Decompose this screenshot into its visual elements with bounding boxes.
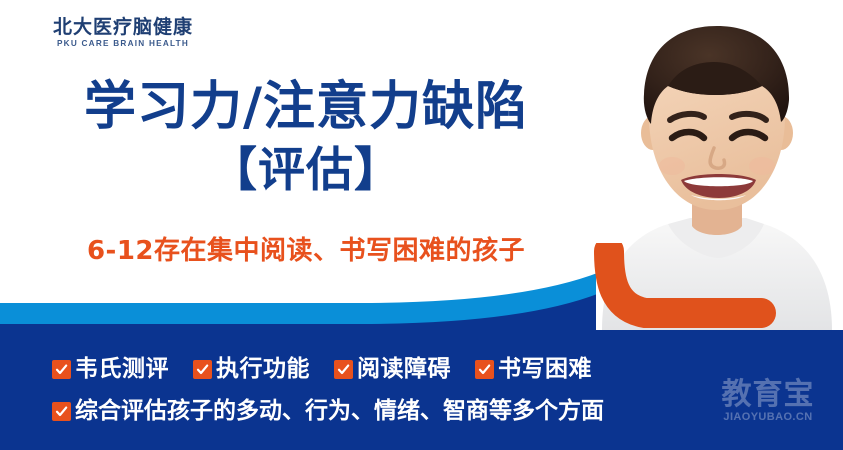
feature-list: 韦氏测评 执行功能 阅读障碍: [52, 348, 732, 432]
feature-row-2: 综合评估孩子的多动、行为、情绪、智商等多个方面: [52, 390, 732, 432]
subheadline: 6-12存在集中阅读、书写困难的孩子: [0, 234, 612, 268]
checkbox-checked-icon: [475, 360, 494, 379]
feature-row-1: 韦氏测评 执行功能 阅读障碍: [52, 348, 732, 390]
check-glyph: [478, 363, 491, 376]
brand-logo-en: PKU CARE BRAIN HEALTH: [57, 38, 189, 49]
feature-item-weishi: 韦氏测评: [52, 356, 169, 382]
brand-logo-cn: 北大医疗脑健康: [53, 17, 193, 37]
child-photo-illustration: [596, 0, 843, 330]
headline-block: 学习力/注意力缺陷 【评估】: [0, 76, 612, 204]
feature-label: 阅读障碍: [357, 356, 451, 382]
feature-label: 韦氏测评: [75, 356, 169, 382]
feature-label: 书写困难: [498, 356, 592, 382]
feature-label: 执行功能: [216, 356, 310, 382]
checkbox-checked-icon: [52, 360, 71, 379]
feature-label: 综合评估孩子的多动、行为、情绪、智商等多个方面: [75, 398, 604, 424]
headline-line-1: 学习力/注意力缺陷: [0, 76, 612, 138]
checkbox-checked-icon: [52, 402, 71, 421]
check-glyph: [196, 363, 209, 376]
feature-item-zhixinggongneng: 执行功能: [193, 356, 310, 382]
check-glyph: [55, 405, 68, 418]
watermark: 教育宝 JIAOYUBAO.CN: [707, 378, 829, 424]
brand-logo: 北大医疗脑健康 PKU CARE BRAIN HEALTH: [48, 14, 198, 52]
child-photo: [596, 0, 843, 330]
feature-item-zongheceping: 综合评估孩子的多动、行为、情绪、智商等多个方面: [52, 398, 604, 424]
watermark-cn: 教育宝: [707, 378, 829, 411]
feature-item-shuxiekunnan: 书写困难: [475, 356, 592, 382]
check-glyph: [55, 363, 68, 376]
checkbox-checked-icon: [334, 360, 353, 379]
headline-line-2: 【评估】: [0, 138, 612, 204]
check-glyph: [337, 363, 350, 376]
checkbox-checked-icon: [193, 360, 212, 379]
watermark-en: JIAOYUBAO.CN: [707, 411, 829, 424]
promo-banner: 北大医疗脑健康 PKU CARE BRAIN HEALTH 学习力/注意力缺陷 …: [0, 0, 843, 450]
feature-item-yueduzhangai: 阅读障碍: [334, 356, 451, 382]
